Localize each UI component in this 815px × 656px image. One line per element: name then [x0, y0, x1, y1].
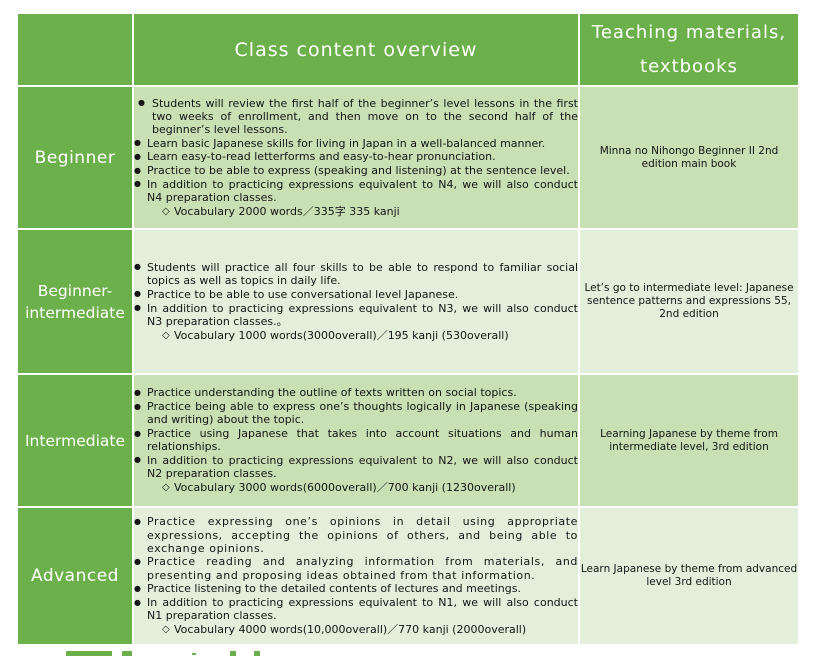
list-item: Practice to be able to use conversationa…	[134, 288, 578, 301]
list-item: Practice being able to express one’s tho…	[134, 400, 578, 426]
content-cell-intermediate: Practice understanding the outline of te…	[134, 375, 578, 506]
level-label-beginner-intermediate: Beginner-intermediate	[18, 230, 132, 373]
list-item: In addition to practicing expressions eq…	[134, 302, 578, 328]
list-item: Practice understanding the outline of te…	[134, 386, 578, 399]
bullet-list: Students will practice all four skills t…	[134, 261, 578, 328]
content-cell-beginner-intermediate: Students will practice all four skills t…	[134, 230, 578, 373]
list-item: Learn easy-to-read letterforms and easy-…	[134, 150, 578, 163]
header-row: Class content overview Teaching material…	[18, 14, 798, 85]
list-item: Students will practice all four skills t…	[134, 261, 578, 287]
table-row: Beginner Students will review the first …	[18, 87, 798, 228]
textbook-cell-advanced: Learn Japanese by theme from advanced le…	[580, 508, 798, 644]
level-label-advanced: Advanced	[18, 508, 132, 644]
bullet-list: Students will review the first half of t…	[134, 97, 578, 205]
vocabulary-note: Vocabulary 2000 words／335字 335 kanji	[134, 205, 578, 218]
header-textbooks-line2: textbooks	[580, 50, 798, 84]
table-header: Class content overview Teaching material…	[18, 14, 798, 85]
header-class-content-overview: Class content overview	[134, 14, 578, 85]
bullet-list: Practice expressing one’s opinions in de…	[134, 515, 578, 622]
textbook-cell-beginner: Minna no Nihongo Beginner II 2nd edition…	[580, 87, 798, 228]
textbook-cell-intermediate: Learning Japanese by theme from intermed…	[580, 375, 798, 506]
list-item: Practice listening to the detailed conte…	[134, 582, 578, 595]
content-cell-beginner: Students will review the first half of t…	[134, 87, 578, 228]
vocabulary-note: Vocabulary 4000 words(10,000overall)／770…	[134, 623, 578, 636]
content-cell-advanced: Practice expressing one’s opinions in de…	[134, 508, 578, 644]
list-item: Students will review the first half of t…	[134, 97, 578, 137]
cutoff-text-sliver	[66, 648, 386, 656]
header-teaching-materials-textbooks: Teaching materials, textbooks	[580, 14, 798, 85]
list-item: Practice to be able to express (speaking…	[134, 164, 578, 177]
header-level-blank	[18, 14, 132, 85]
header-textbooks-line1: Teaching materials,	[580, 16, 798, 50]
table-row: Beginner-intermediate Students will prac…	[18, 230, 798, 373]
table-row: Intermediate Practice understanding the …	[18, 375, 798, 506]
level-label-text: Beginner-intermediate	[18, 280, 132, 324]
table-body: Beginner Students will review the first …	[18, 87, 798, 644]
list-item: In addition to practicing expressions eq…	[134, 596, 578, 622]
level-label-beginner: Beginner	[18, 87, 132, 228]
textbook-cell-beginner-intermediate: Let’s go to intermediate level: Japanese…	[580, 230, 798, 373]
list-item: In addition to practicing expressions eq…	[134, 178, 578, 204]
list-item: Practice using Japanese that takes into …	[134, 427, 578, 453]
vocabulary-note: Vocabulary 1000 words(3000overall)／195 k…	[134, 329, 578, 342]
page-root: Class content overview Teaching material…	[0, 0, 815, 656]
bullet-list: Practice understanding the outline of te…	[134, 386, 578, 480]
table-row: Advanced Practice expressing one’s opini…	[18, 508, 798, 644]
list-item: In addition to practicing expressions eq…	[134, 454, 578, 480]
course-level-table: Class content overview Teaching material…	[16, 12, 800, 646]
level-label-intermediate: Intermediate	[18, 375, 132, 506]
list-item: Practice expressing one’s opinions in de…	[134, 515, 578, 555]
list-item: Practice reading and analyzing informati…	[134, 555, 578, 581]
list-item: Learn basic Japanese skills for living i…	[134, 137, 578, 150]
vocabulary-note: Vocabulary 3000 words(6000overall)／700 k…	[134, 481, 578, 494]
